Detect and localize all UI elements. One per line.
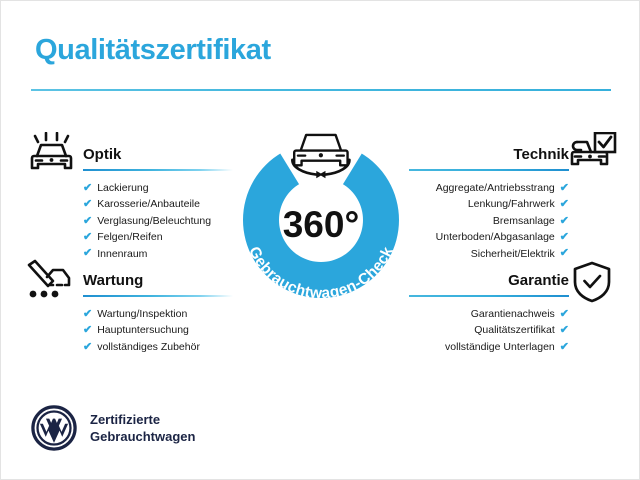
section-header-technik: Technik <box>409 141 569 171</box>
section-title: Optik <box>83 146 121 163</box>
list-item-label: Unterboden/Abgasanlage <box>436 229 555 245</box>
check-icon: ✔ <box>560 248 569 259</box>
check-icon: ✔ <box>83 325 92 336</box>
list-item: Qualitätszertifikat ✔ <box>409 322 569 338</box>
list-item-label: Garantienachweis <box>471 306 555 322</box>
checklist-garantie: Garantienachweis ✔ Qualitätszertifikat ✔… <box>409 306 569 355</box>
wrench-car-icon <box>23 259 73 308</box>
list-item: ✔ Innenraum <box>83 246 233 262</box>
footer-line-1: Zertifizierte <box>90 411 195 428</box>
checklist-optik: ✔ Lackierung ✔ Karosserie/Anbauteile ✔ V… <box>83 180 233 262</box>
list-item: ✔ Verglasung/Beleuchtung <box>83 213 233 229</box>
list-item: Garantienachweis ✔ <box>409 306 569 322</box>
section-divider <box>409 169 569 171</box>
list-item: Lenkung/Fahrwerk ✔ <box>409 196 569 212</box>
section-title: Technik <box>513 146 569 163</box>
list-item: ✔ vollständiges Zubehör <box>83 339 233 355</box>
list-item-label: Felgen/Reifen <box>97 229 162 245</box>
section-divider <box>409 295 569 297</box>
section-optik: Optik ✔ Lackierung ✔ Karosserie/Anbautei… <box>83 141 233 262</box>
check-icon: ✔ <box>83 342 92 353</box>
list-item-label: vollständiges Zubehör <box>97 339 200 355</box>
list-item-label: Aggregate/Antriebsstrang <box>436 180 555 196</box>
check-icon: ✔ <box>560 183 569 194</box>
shield-check-icon <box>571 260 613 309</box>
checklist-technik: Aggregate/Antriebsstrang ✔ Lenkung/Fahrw… <box>409 180 569 262</box>
car-checkbox-icon <box>569 132 617 181</box>
footer-brand-text: Zertifizierte Gebrauchtwagen <box>90 411 195 445</box>
list-item: Sicherheit/Elektrik ✔ <box>409 246 569 262</box>
check-icon: ✔ <box>83 309 92 320</box>
check-icon: ✔ <box>560 325 569 336</box>
check-icon: ✔ <box>560 232 569 243</box>
check-icon: ✔ <box>560 309 569 320</box>
check-icon: ✔ <box>560 216 569 227</box>
badge-360-gebrauchtwagen-check: 360° Gebrauchtwagen-Check <box>223 117 419 317</box>
list-item: Unterboden/Abgasanlage ✔ <box>409 229 569 245</box>
section-header-garantie: Garantie <box>409 267 569 297</box>
footer-line-2: Gebrauchtwagen <box>90 428 195 445</box>
section-garantie: Garantie Garantienachweis ✔ Qualitätszer… <box>409 267 569 355</box>
list-item: ✔ Lackierung <box>83 180 233 196</box>
list-item: ✔ Wartung/Inspektion <box>83 306 233 322</box>
check-icon: ✔ <box>83 183 92 194</box>
check-icon: ✔ <box>83 216 92 227</box>
list-item-label: Verglasung/Beleuchtung <box>97 213 211 229</box>
section-header-wartung: Wartung <box>83 267 233 297</box>
list-item-label: Hauptuntersuchung <box>97 322 189 338</box>
list-item-label: Sicherheit/Elektrik <box>471 246 555 262</box>
list-item: Bremsanlage ✔ <box>409 213 569 229</box>
check-icon: ✔ <box>83 248 92 259</box>
check-icon: ✔ <box>83 232 92 243</box>
list-item-label: Qualitätszertifikat <box>474 322 555 338</box>
section-wartung: Wartung ✔ Wartung/Inspektion ✔ Hauptunte… <box>83 267 233 355</box>
list-item: ✔ Felgen/Reifen <box>83 229 233 245</box>
list-item: Aggregate/Antriebsstrang ✔ <box>409 180 569 196</box>
check-icon: ✔ <box>560 199 569 210</box>
certificate-page: Qualitätszertifikat Optik <box>0 0 640 480</box>
footer-brand: Zertifizierte Gebrauchtwagen <box>31 405 195 451</box>
list-item-label: vollständige Unterlagen <box>445 339 555 355</box>
badge-center-label: 360° <box>283 204 360 245</box>
list-item-label: Innenraum <box>97 246 147 262</box>
list-item-label: Bremsanlage <box>493 213 555 229</box>
list-item-label: Lackierung <box>97 180 148 196</box>
list-item-label: Karosserie/Anbauteile <box>97 196 200 212</box>
section-header-optik: Optik <box>83 141 233 171</box>
checklist-wartung: ✔ Wartung/Inspektion ✔ Hauptuntersuchung… <box>83 306 233 355</box>
check-icon: ✔ <box>560 342 569 353</box>
car-shine-icon <box>27 132 73 181</box>
list-item: vollständige Unterlagen ✔ <box>409 339 569 355</box>
title-divider <box>31 89 611 91</box>
section-divider <box>83 169 233 171</box>
check-icon: ✔ <box>83 199 92 210</box>
list-item-label: Wartung/Inspektion <box>97 306 187 322</box>
section-technik: Technik Aggregate/Antriebsstrang ✔ Lenku… <box>409 141 569 262</box>
list-item: ✔ Hauptuntersuchung <box>83 322 233 338</box>
section-title: Wartung <box>83 272 143 289</box>
page-title: Qualitätszertifikat <box>35 34 271 67</box>
list-item: ✔ Karosserie/Anbauteile <box>83 196 233 212</box>
vw-logo-icon <box>31 405 77 451</box>
list-item-label: Lenkung/Fahrwerk <box>468 196 555 212</box>
section-title: Garantie <box>508 272 569 289</box>
section-divider <box>83 295 233 297</box>
